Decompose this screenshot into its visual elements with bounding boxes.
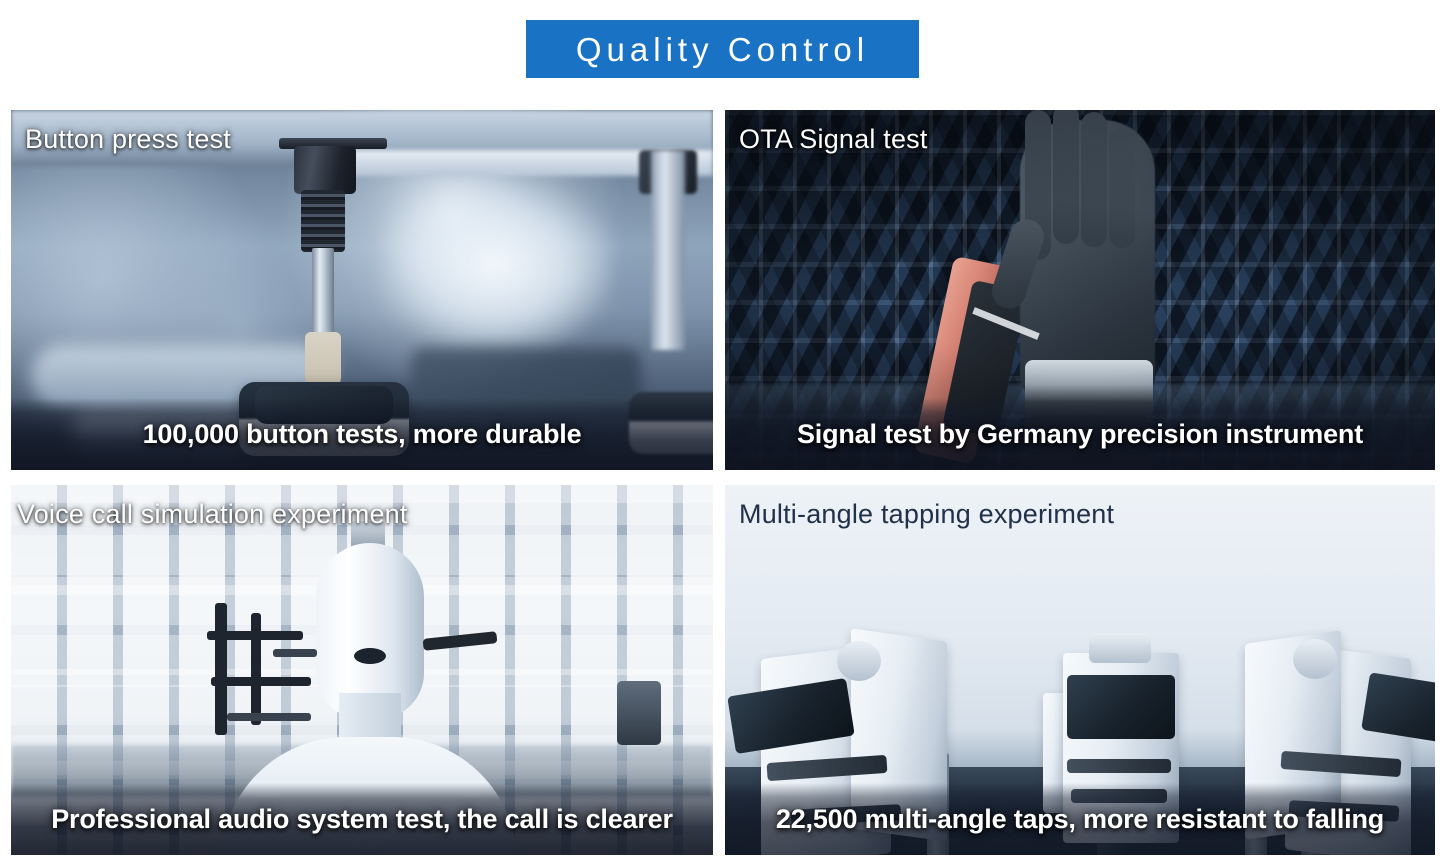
panel-voice-call-simulation[interactable]: Voice call simulation experiment Profess… — [11, 485, 713, 855]
press-threaded-shaft — [301, 190, 345, 252]
panel-button-press-test[interactable]: Button press test 100,000 button tests, … — [11, 110, 713, 470]
press-nut — [294, 146, 356, 194]
panel-caption-multi-angle-tapping: 22,500 multi-angle taps, more resistant … — [776, 804, 1384, 835]
quality-control-panel-grid: Button press test 100,000 button tests, … — [11, 110, 1435, 855]
page-title: Quality Control — [576, 33, 869, 66]
robot-right-joint — [1293, 639, 1337, 679]
robot-center-arm-1 — [1067, 759, 1171, 773]
phone-positioner-rig — [207, 603, 323, 745]
reference-loudspeaker — [617, 681, 661, 745]
press-rod — [312, 248, 334, 338]
robot-center-joint — [1089, 633, 1151, 663]
panel-label-multi-angle-tapping: Multi-angle tapping experiment — [739, 499, 1114, 530]
secondary-press-rod — [651, 150, 685, 350]
panel-label-ota-signal-test: OTA Signal test — [739, 124, 928, 155]
mannequin-mouth-simulator — [354, 648, 386, 664]
panel-caption-voice-call-simulation: Professional audio system test, the call… — [51, 804, 673, 835]
panel-label-voice-call-simulation: Voice call simulation experiment — [17, 499, 408, 530]
title-banner: Quality Control — [526, 20, 919, 78]
panel-caption-button-press-test: 100,000 button tests, more durable — [143, 419, 582, 450]
background-light-blur — [381, 180, 611, 350]
caption-bar-voice-call-simulation: Professional audio system test, the call… — [11, 783, 713, 855]
panel-multi-angle-tapping[interactable]: Multi-angle tapping experiment 22,500 mu… — [725, 485, 1435, 855]
panel-label-button-press-test: Button press test — [25, 124, 231, 155]
caption-bar-ota-signal-test: Signal test by Germany precision instrum… — [725, 398, 1435, 470]
panel-caption-ota-signal-test: Signal test by Germany precision instrum… — [797, 419, 1363, 450]
robot-center-device-screen — [1067, 675, 1175, 739]
caption-bar-multi-angle-tapping: 22,500 multi-angle taps, more resistant … — [725, 783, 1435, 855]
page-header: Quality Control — [0, 20, 1445, 78]
caption-bar-button-press-test: 100,000 button tests, more durable — [11, 398, 713, 470]
panel-ota-signal-test[interactable]: OTA Signal test Signal test by Germany p… — [725, 110, 1435, 470]
robot-left-joint — [837, 641, 881, 681]
